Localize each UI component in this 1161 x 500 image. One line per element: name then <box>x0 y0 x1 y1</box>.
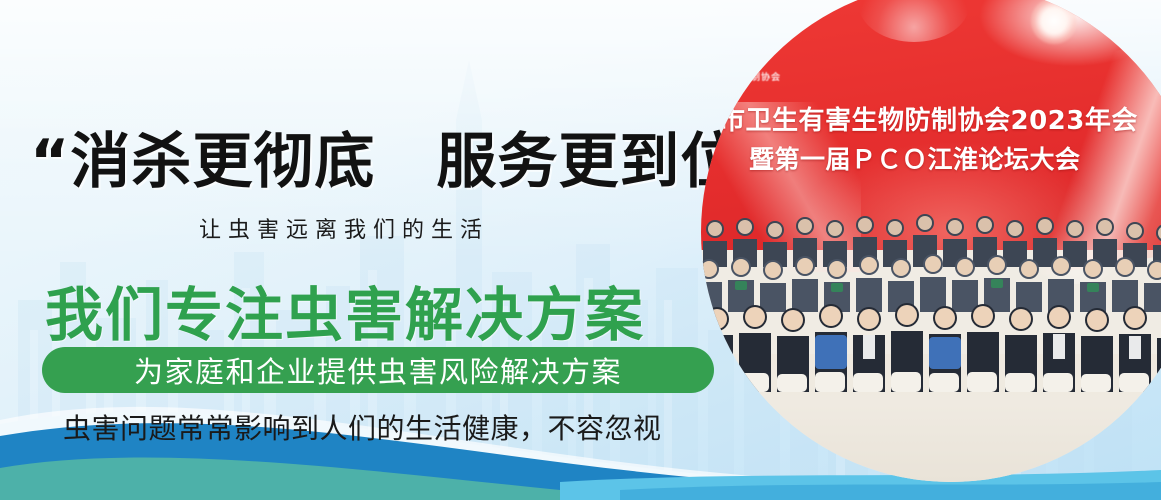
banner-green-headline: 我们专注虫害解决方案 <box>45 268 645 352</box>
conference-photo: 防制协会 市卫生有害生物防制协会2023年会 暨第一届ＰＣＯ江淮论坛大会 <box>701 0 1161 482</box>
banner-headline: “消杀更彻底 服务更到位” <box>30 113 782 200</box>
service-pill-badge: 为家庭和企业提供虫害风险解决方案 <box>42 347 714 393</box>
association-logo-text: 防制协会 <box>741 70 781 83</box>
conference-photo-circle: 防制协会 市卫生有害生物防制协会2023年会 暨第一届ＰＣＯ江淮论坛大会 <box>701 0 1161 482</box>
firework-graphic <box>859 0 969 42</box>
stage-spotlight <box>1031 0 1077 44</box>
stage-banner-line-2: 暨第一届ＰＣＯ江淮论坛大会 <box>749 140 1081 176</box>
group-photo-people <box>701 207 1161 392</box>
hero-banner: “消杀更彻底 服务更到位” 让虫害远离我们的生活 我们专注虫害解决方案 为家庭和… <box>0 0 1161 500</box>
banner-subheadline: 让虫害远离我们的生活 <box>199 212 489 244</box>
banner-tagline: 虫害问题常常影响到人们的生活健康，不容忽视 <box>63 407 662 447</box>
service-pill-label: 为家庭和企业提供虫害风险解决方案 <box>42 347 714 393</box>
stage-banner-line-1: 市卫生有害生物防制协会2023年会 <box>719 100 1138 137</box>
